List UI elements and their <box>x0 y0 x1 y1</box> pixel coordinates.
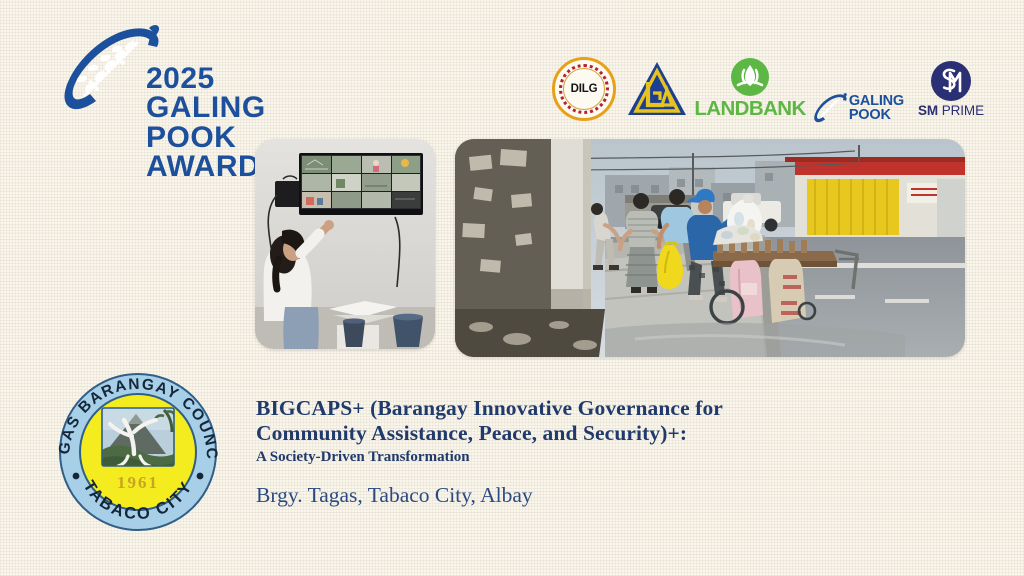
galing-pook-wheat-swoosh-icon <box>812 90 848 126</box>
landbank-leaf-icon <box>731 58 769 96</box>
barangay-seal-artwork: TAGAS BARANGAY COUNCIL TABACO CITY <box>44 358 232 546</box>
sm-prime-light: PRIME <box>942 103 984 118</box>
program-location: Brgy. Tagas, Tabaco City, Albay <box>256 483 896 509</box>
landbank-wordmark: LANDBANK <box>694 97 805 121</box>
dilg-seal-icon: DILG <box>552 57 616 121</box>
program-subtitle: A Society-Driven Transformation <box>256 448 896 466</box>
street-cleanup-photo-artwork <box>455 139 965 357</box>
landbank-sprout-glyph <box>731 58 769 96</box>
seal-year: 1961 <box>117 473 159 492</box>
partner-logo-dilg: DILG <box>552 52 616 126</box>
partner-logo-galing-pook: GALING POOK <box>812 52 904 126</box>
program-title-line1: BIGCAPS+ (Barangay Innovative Governance… <box>256 396 896 421</box>
cctv-photo-artwork <box>255 139 435 349</box>
program-title-line2: Community Assistance, Peace, and Securit… <box>256 421 896 446</box>
awards-year: 2025 <box>146 64 323 93</box>
galing-pook-awards-logo: 2025 GALING POOK AWARDS <box>58 24 323 142</box>
street-cleanup-photo <box>455 139 965 357</box>
lga-triangle-icon <box>626 60 688 118</box>
sm-monogram-icon <box>931 61 971 101</box>
partner-logo-sm-prime: SM PRIME <box>914 52 988 126</box>
cctv-monitoring-photo <box>255 139 435 349</box>
title-block: BIGCAPS+ (Barangay Innovative Governance… <box>256 396 896 509</box>
sm-prime-wordmark: SM PRIME <box>918 103 984 118</box>
sm-monogram-glyph <box>931 61 971 101</box>
partner-logo-lga <box>626 52 688 126</box>
program-title: BIGCAPS+ (Barangay Innovative Governance… <box>256 396 896 446</box>
dilg-label: DILG <box>568 82 601 96</box>
galing-pook-line2: POOK <box>849 109 904 123</box>
slide-stage: 2025 GALING POOK AWARDS DILG <box>0 0 1024 576</box>
galing-pook-wordmark: GALING POOK <box>849 95 904 126</box>
sm-prime-bold: SM <box>918 103 938 118</box>
partner-logo-landbank: LANDBANK <box>698 52 802 126</box>
mayon-volcano-illustration <box>102 408 175 470</box>
partner-logos: DILG LANDBANK <box>552 52 992 126</box>
tagas-barangay-council-seal: TAGAS BARANGAY COUNCIL TABACO CITY <box>44 358 232 546</box>
